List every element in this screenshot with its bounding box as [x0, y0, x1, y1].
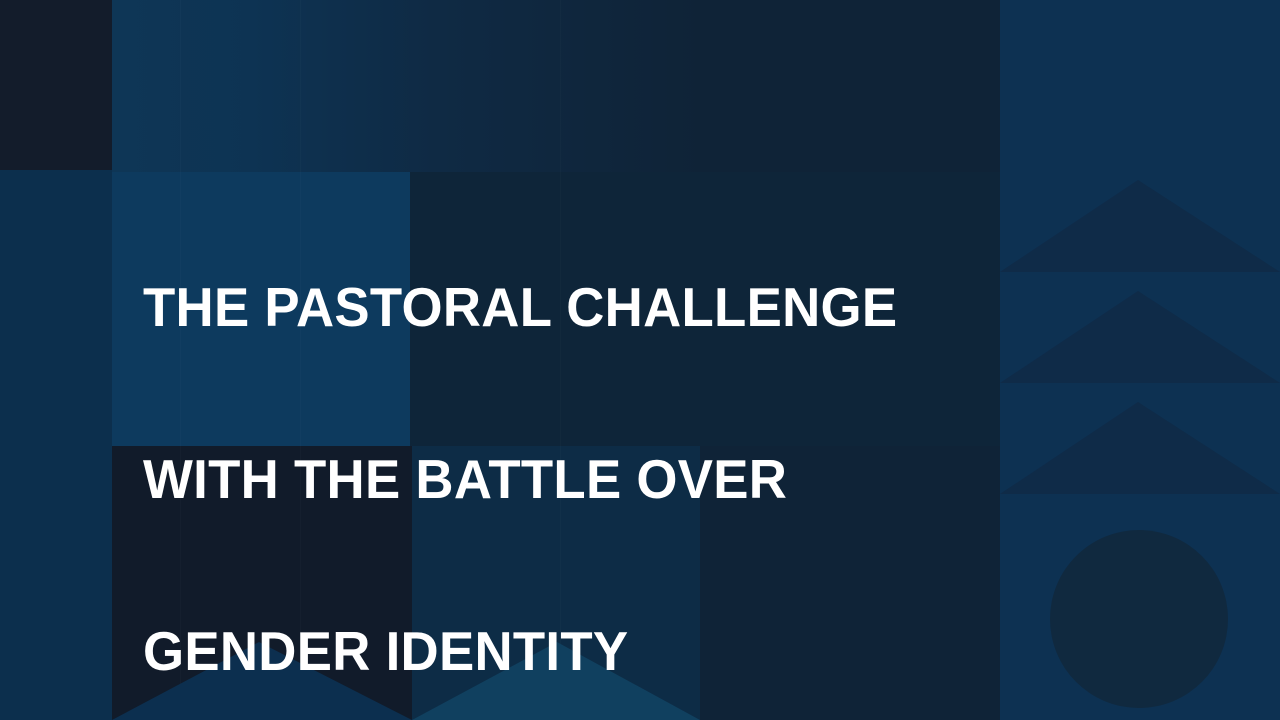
triangle-icon [1000, 402, 1280, 494]
circle-icon [1050, 530, 1228, 708]
background-block-right-top [700, 0, 1000, 172]
triangle-icon [1000, 180, 1280, 272]
background-block-top-left-dark [0, 0, 112, 170]
background-sheen-band [112, 0, 700, 172]
page-title-line-3: GENDER IDENTITY [143, 608, 940, 694]
page-title: THE PASTORAL CHALLENGE WITH THE BATTLE O… [143, 178, 940, 720]
triangle-icon [1000, 291, 1280, 383]
page-title-line-1: THE PASTORAL CHALLENGE [143, 264, 940, 350]
title-slide: THE PASTORAL CHALLENGE WITH THE BATTLE O… [0, 0, 1280, 720]
page-title-line-2: WITH THE BATTLE OVER [143, 436, 940, 522]
background-block-left-column [0, 170, 112, 720]
